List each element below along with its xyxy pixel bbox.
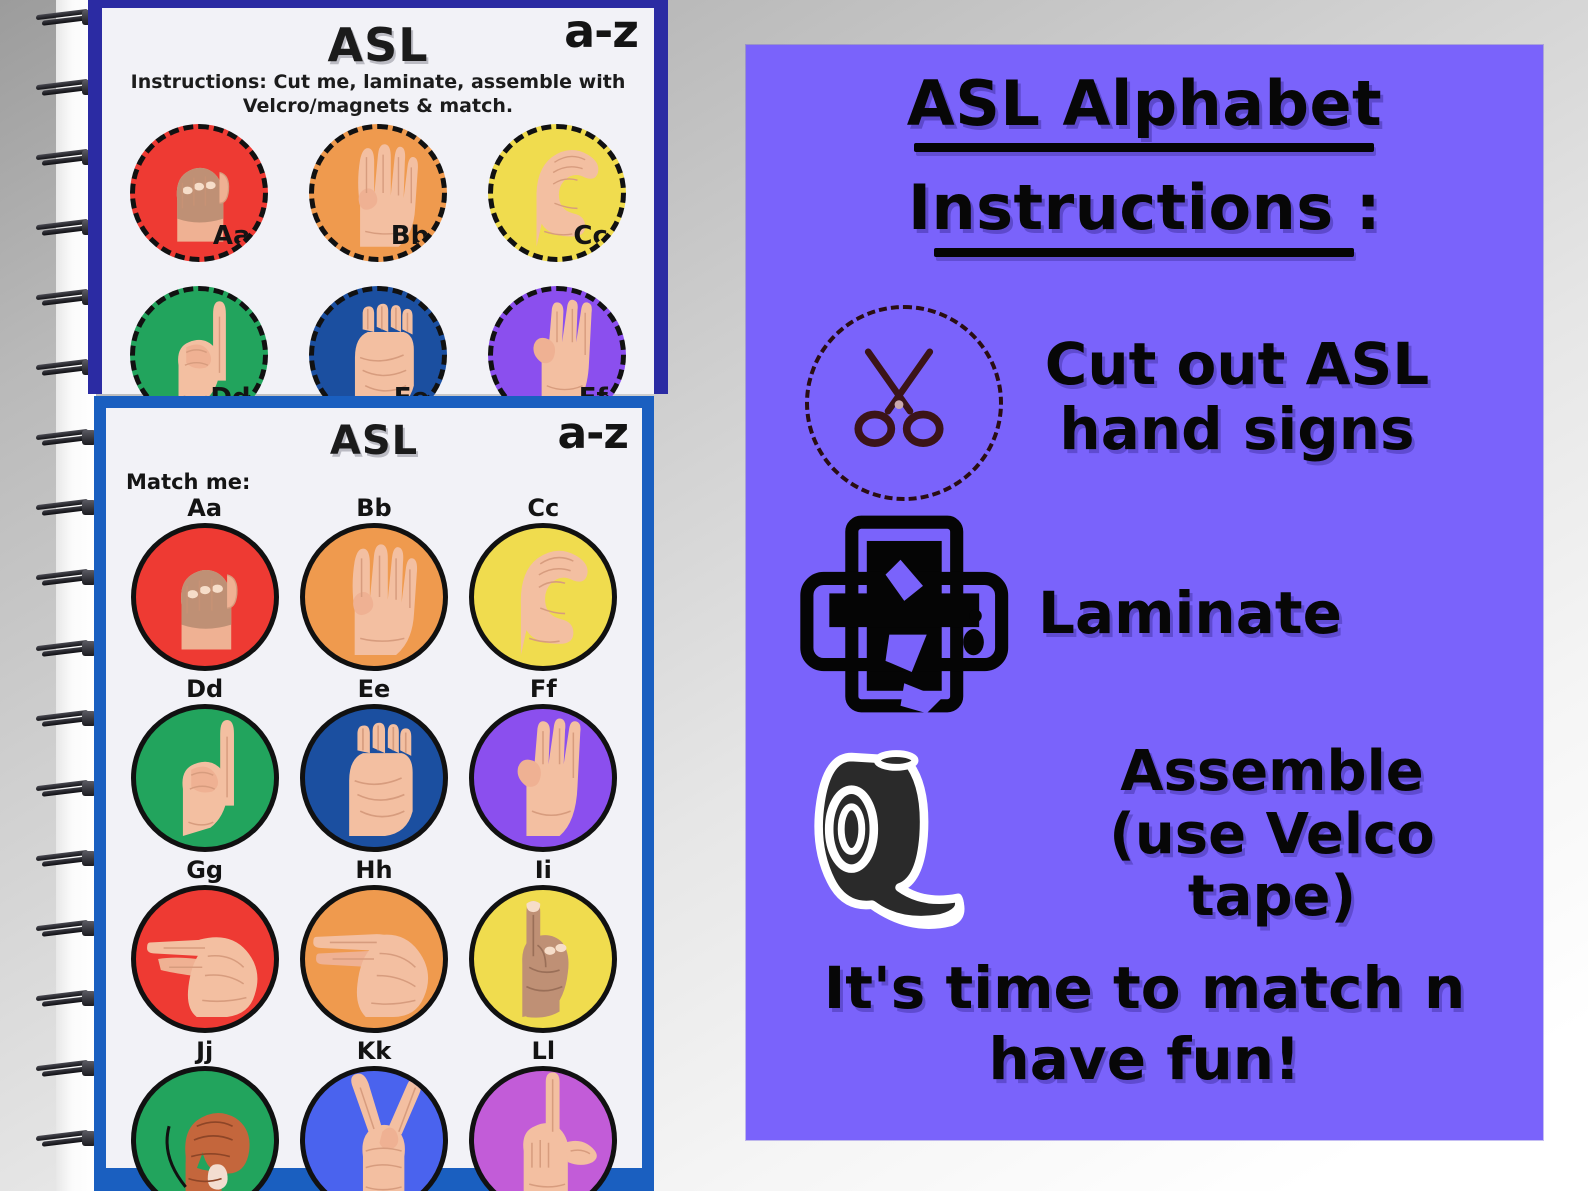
binding-coil [36, 570, 98, 587]
sign-disc[interactable] [131, 1066, 279, 1191]
sign-tile-letter: Bb [391, 223, 429, 249]
hand-sign-l-icon [474, 1071, 612, 1191]
page1-az-badge: a-z [564, 4, 638, 58]
sign-tile[interactable]: Jj [120, 1039, 289, 1191]
tape-roll-icon [788, 733, 1018, 939]
panel-heading-underline-1 [914, 143, 1374, 152]
hand-sign-e-icon [305, 709, 443, 847]
sign-tile-letter: Dd [186, 677, 223, 701]
hand-sign-a-icon [136, 528, 274, 666]
sign-disc[interactable] [300, 1066, 448, 1191]
sign-tile-letter: Gg [186, 858, 223, 882]
page2-az-badge: a-z [557, 408, 628, 459]
laminator-icon [782, 511, 1034, 717]
panel-step-cut-label: Cut out ASL hand signs [992, 332, 1482, 462]
sign-tile-letter: Ll [532, 1039, 556, 1063]
panel-step-assemble: Assemble (use Velco tape) [770, 729, 1530, 941]
hand-sign-d-icon [136, 709, 274, 847]
scissors-icon-wrapper [770, 297, 992, 497]
binding-coil [36, 641, 98, 658]
sign-disc[interactable]: Bb [309, 124, 447, 262]
sign-tile-letter: Cc [527, 496, 559, 520]
sign-tile[interactable]: Gg [120, 858, 289, 1033]
page2-match-prompt: Match me: [126, 470, 250, 494]
sign-tile-letter: Jj [196, 1039, 213, 1063]
instructions-panel: ASL Alphabet Instructions : [746, 45, 1543, 1140]
page2-sign-grid: Aa Bb Cc Dd Ee [120, 496, 628, 1191]
hand-sign-g-icon [136, 890, 274, 1028]
sign-disc[interactable] [469, 704, 617, 852]
page1-paper: ASL a-z Instructions: Cut me, laminate, … [102, 8, 654, 394]
binding-coil [36, 500, 98, 517]
binding-coil [36, 851, 98, 868]
sign-tile-letter: Kk [357, 1039, 392, 1063]
sign-tile[interactable]: Ll [459, 1039, 628, 1191]
sign-disc[interactable] [469, 1066, 617, 1191]
sign-tile-letter: Cc [573, 223, 608, 249]
sign-disc[interactable]: Aa [130, 124, 268, 262]
sign-tile[interactable]: Aa [120, 496, 289, 671]
page2-paper: ASL a-z Match me: Aa Bb Cc Dd Ee [106, 408, 642, 1168]
binding-coil [36, 711, 98, 728]
sign-disc[interactable] [131, 885, 279, 1033]
sign-disc[interactable] [469, 885, 617, 1033]
sign-tile[interactable]: Aa [110, 124, 289, 262]
hand-sign-f-icon [474, 709, 612, 847]
sign-tile-letter: Aa [213, 223, 251, 249]
hand-sign-b-icon [305, 528, 443, 666]
slide-canvas: ASL a-z Instructions: Cut me, laminate, … [0, 0, 1588, 1191]
binding-coil [36, 1131, 98, 1148]
panel-step-assemble-label: Assemble (use Velco tape) [1022, 741, 1522, 929]
sign-tile[interactable]: Cc [459, 496, 628, 671]
sign-tile-letter: Ff [530, 677, 557, 701]
sign-tile[interactable]: Ii [459, 858, 628, 1033]
scissors-icon [844, 343, 954, 453]
panel-heading-underline-2 [934, 248, 1354, 257]
asl-match-board-page[interactable]: ASL a-z Match me: Aa Bb Cc Dd Ee [94, 396, 654, 1191]
panel-heading-line1: ASL Alphabet [746, 67, 1543, 140]
sign-disc[interactable]: Cc [488, 124, 626, 262]
binding-coil [36, 921, 98, 938]
page1-sign-grid: Aa Bb Cc Dd Ee Ff [110, 124, 646, 424]
hand-sign-c-icon [474, 528, 612, 666]
sign-disc[interactable] [131, 523, 279, 671]
sign-tile-letter: Bb [356, 496, 391, 520]
sign-tile[interactable]: Bb [289, 496, 458, 671]
panel-step-laminate-label: Laminate [1038, 581, 1498, 646]
sign-disc[interactable] [469, 523, 617, 671]
sign-disc[interactable] [300, 704, 448, 852]
sign-disc[interactable] [131, 704, 279, 852]
page1-instructions: Instructions: Cut me, laminate, assemble… [102, 70, 654, 119]
hand-sign-h-icon [305, 890, 443, 1028]
sign-tile[interactable]: Hh [289, 858, 458, 1033]
sign-disc[interactable] [300, 885, 448, 1033]
sign-tile[interactable]: Ff [459, 677, 628, 852]
sign-tile[interactable]: Ee [289, 677, 458, 852]
hand-sign-i-icon [474, 890, 612, 1028]
sign-tile[interactable]: Dd [120, 677, 289, 852]
binding-coil [36, 1061, 98, 1078]
sign-tile-letter: Hh [355, 858, 392, 882]
sign-tile[interactable]: Cc [467, 124, 646, 262]
asl-cut-apart-page[interactable]: ASL a-z Instructions: Cut me, laminate, … [88, 0, 668, 394]
panel-heading-line2: Instructions : [746, 171, 1543, 244]
sign-tile[interactable]: Bb [289, 124, 468, 262]
hand-sign-j-icon [136, 1071, 274, 1191]
panel-step-laminate: Laminate [770, 507, 1530, 719]
binding-coil [36, 991, 98, 1008]
sign-tile[interactable]: Kk [289, 1039, 458, 1191]
sign-tile-letter: Ii [535, 858, 552, 882]
sign-tile-letter: Aa [187, 496, 222, 520]
laminator-icon-wrapper [770, 507, 1038, 719]
tape-roll-icon-wrapper [770, 729, 1022, 941]
binding-coil [36, 430, 98, 447]
binding-coil [36, 781, 98, 798]
panel-step-cut: Cut out ASL hand signs [770, 297, 1530, 497]
sign-disc[interactable] [300, 523, 448, 671]
panel-closing-text: It's time to match n have fun! [746, 953, 1543, 1095]
hand-sign-k-icon [305, 1071, 443, 1191]
spiral-binding-icon [0, 0, 96, 1191]
sign-tile-letter: Ee [358, 677, 391, 701]
